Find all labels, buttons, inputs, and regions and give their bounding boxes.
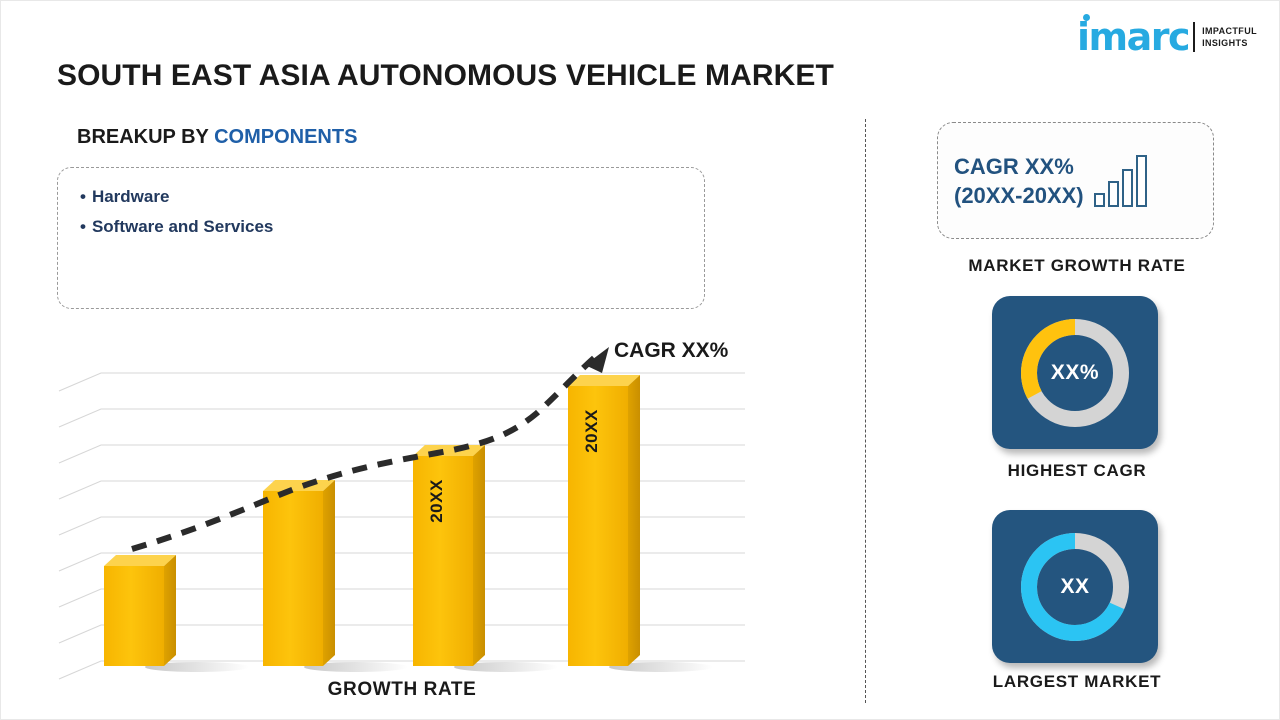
chart-svg: [57, 331, 747, 681]
bar-4: [568, 375, 640, 666]
logo-tagline: IMPACTFUL INSIGHTS: [1202, 25, 1257, 49]
logo-tagline-line1: IMPACTFUL: [1202, 25, 1257, 37]
bar-2: [263, 480, 335, 666]
chart-cagr-label: CAGR XX%: [614, 339, 728, 363]
slide-canvas: imarc IMPACTFUL INSIGHTS SOUTH EAST ASIA…: [0, 0, 1280, 720]
bar-label-3: 20XX: [427, 461, 447, 541]
highest-cagr-card: XX%: [992, 296, 1158, 449]
breakup-heading: BREAKUP BY COMPONENTS: [77, 126, 357, 149]
breakup-highlight: COMPONENTS: [214, 126, 357, 148]
bar-chart-icon: [1094, 155, 1147, 207]
logo-divider: [1193, 22, 1195, 52]
logo-wordmark-text: imarc: [1077, 15, 1189, 59]
chart-axis-label: GROWTH RATE: [57, 679, 747, 701]
bullet-icon: •: [80, 217, 86, 236]
highest-cagr-label: HIGHEST CAGR: [927, 461, 1227, 481]
logo-wordmark: imarc: [1077, 18, 1189, 56]
bullet-icon: •: [80, 187, 86, 206]
logo-tagline-line2: INSIGHTS: [1202, 37, 1257, 49]
cagr-trend-arrow: [132, 347, 609, 549]
highest-cagr-value: XX%: [1015, 313, 1135, 433]
logo-dot-icon: [1083, 14, 1090, 21]
bar-3: [413, 445, 485, 666]
list-item: •Software and Services: [80, 212, 682, 242]
largest-market-donut: XX: [1015, 527, 1135, 647]
cagr-line-2: (20XX-20XX): [954, 181, 1084, 210]
bar-1: [104, 555, 176, 666]
highest-cagr-donut: XX%: [1015, 313, 1135, 433]
list-item: •Hardware: [80, 182, 682, 212]
imarc-logo: imarc IMPACTFUL INSIGHTS: [1077, 15, 1257, 59]
largest-market-card: XX: [992, 510, 1158, 663]
list-item-label: Software and Services: [92, 217, 273, 236]
cagr-line-1: CAGR XX%: [954, 152, 1084, 181]
largest-market-value: XX: [1015, 527, 1135, 647]
bar-label-4: 20XX: [582, 391, 602, 471]
components-list-box: •Hardware •Software and Services: [57, 167, 705, 309]
market-growth-rate-card: CAGR XX% (20XX-20XX): [937, 122, 1214, 239]
cagr-text: CAGR XX% (20XX-20XX): [954, 152, 1084, 210]
growth-rate-bar-chart: 20XX 20XX: [57, 331, 747, 681]
list-item-label: Hardware: [92, 187, 169, 206]
market-growth-rate-label: MARKET GROWTH RATE: [927, 256, 1227, 276]
page-title: SOUTH EAST ASIA AUTONOMOUS VEHICLE MARKE…: [57, 59, 834, 93]
breakup-prefix: BREAKUP BY: [77, 126, 209, 148]
largest-market-label: LARGEST MARKET: [927, 672, 1227, 692]
section-divider: [865, 119, 866, 703]
